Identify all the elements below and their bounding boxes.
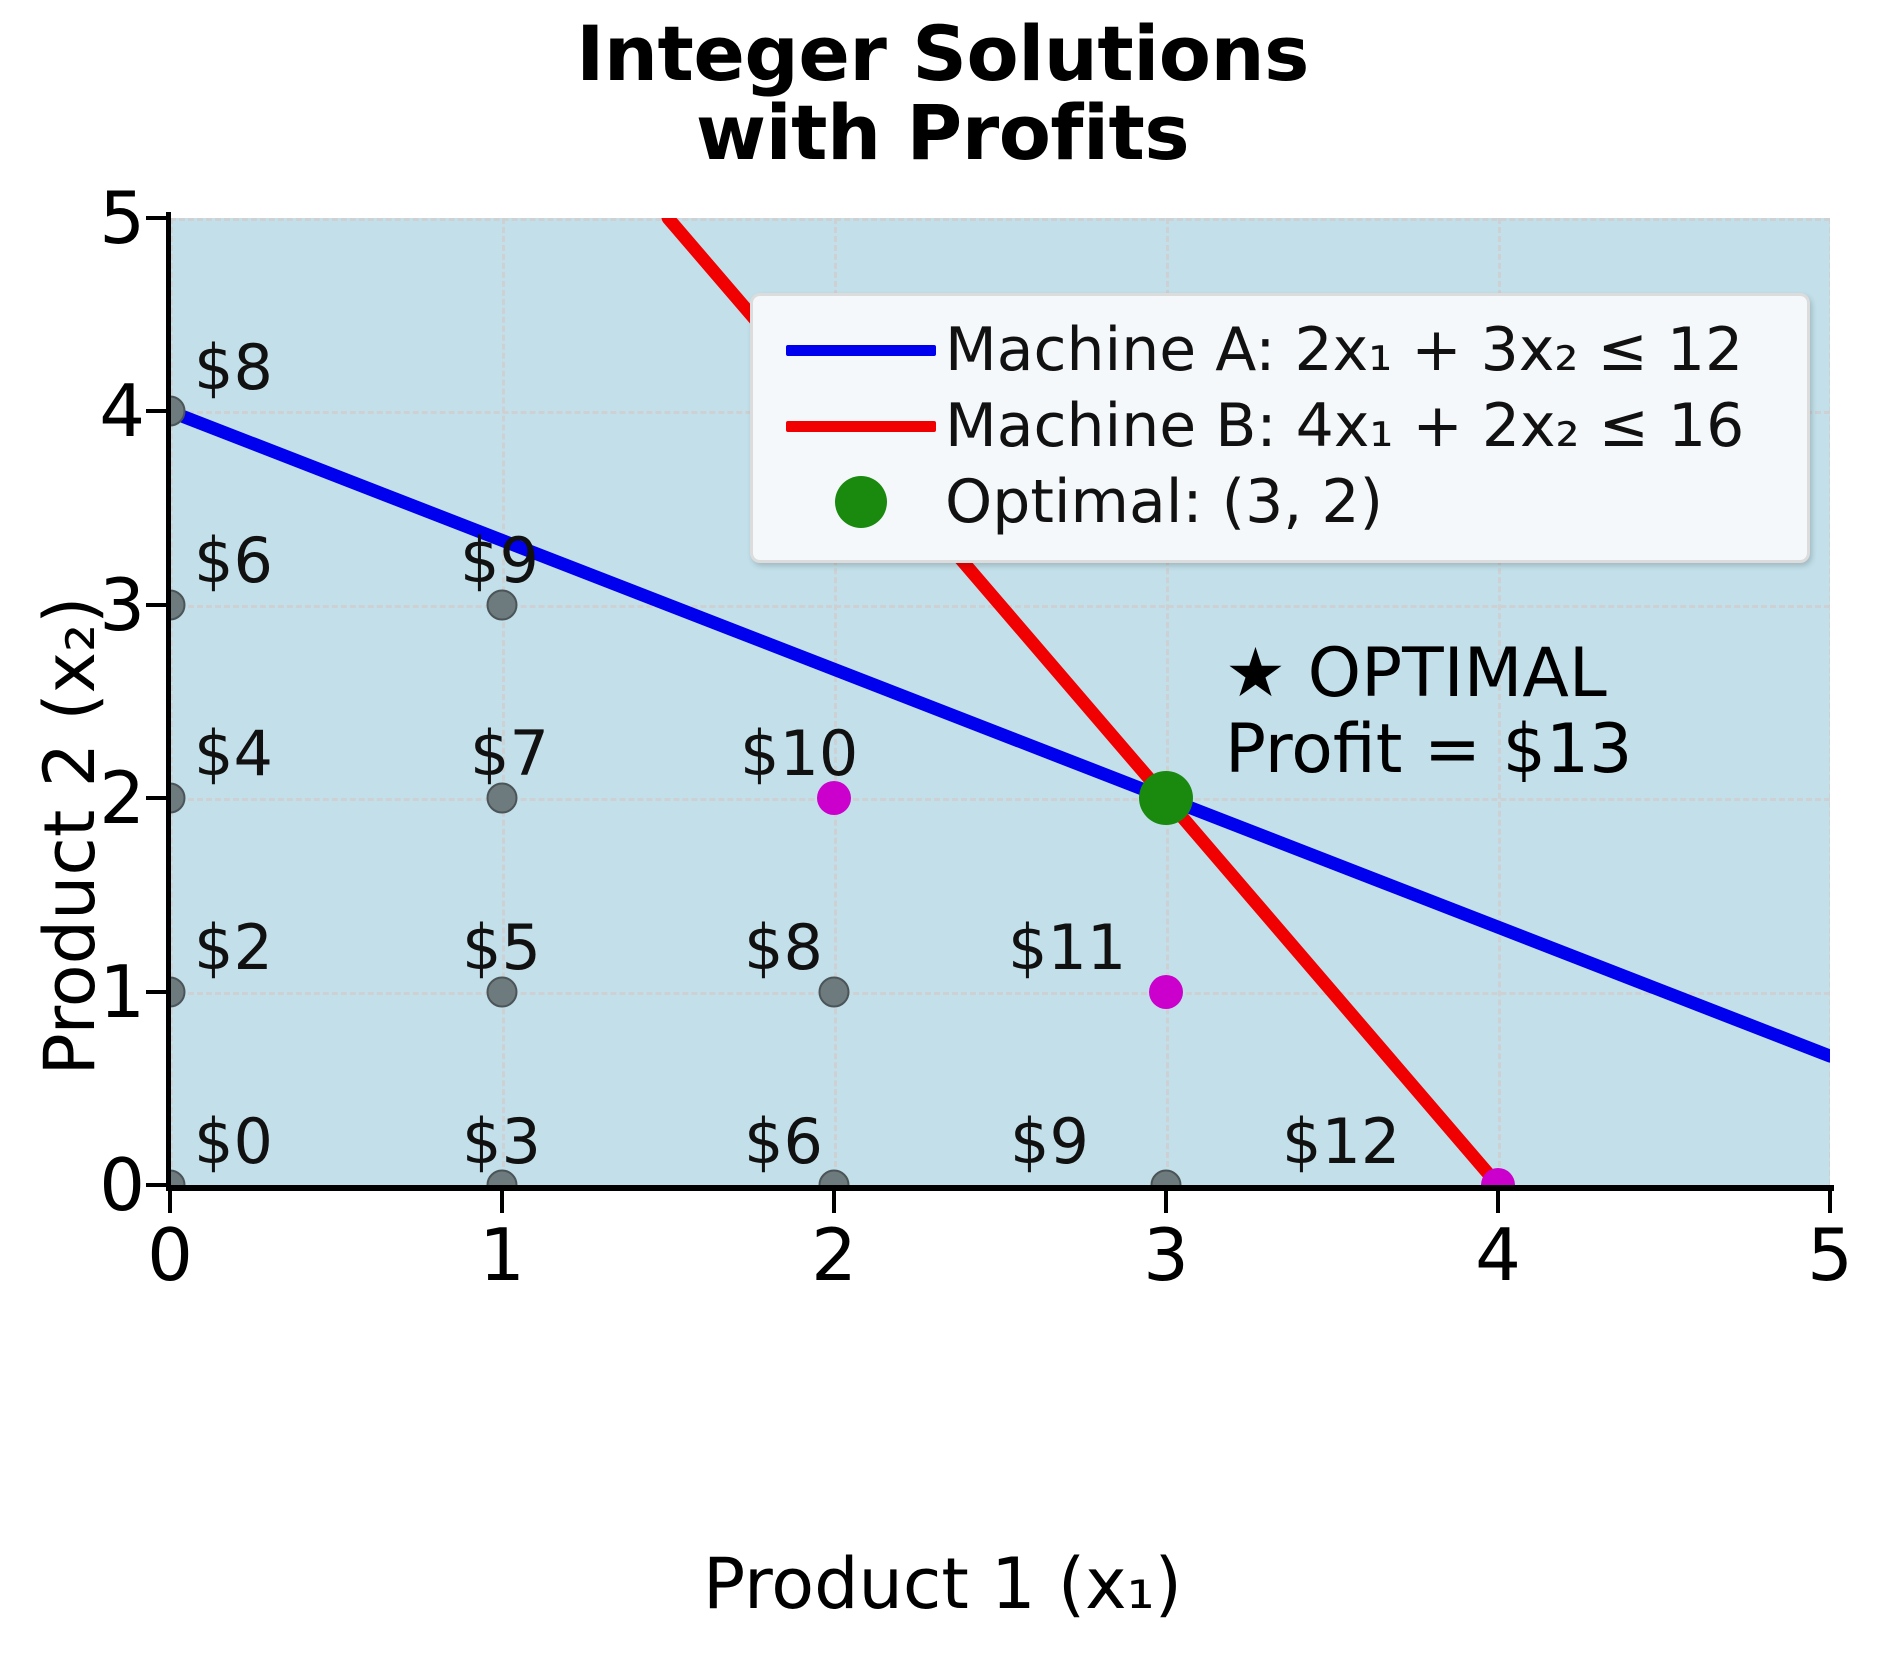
profit-label: $7 (470, 717, 549, 790)
profit-label: $10 (740, 717, 858, 790)
profit-label: $6 (744, 1105, 823, 1178)
solution-point[interactable] (819, 976, 850, 1007)
y-tick (146, 990, 168, 994)
y-tick (146, 409, 168, 413)
y-tick (146, 216, 168, 220)
legend-item[interactable]: Machine B: 4x₁ + 2x₂ ≤ 16 (777, 388, 1783, 464)
axis-spine-left (166, 212, 171, 1191)
chart-title: Integer Solutions with Profits (0, 14, 1885, 172)
profit-label: $2 (194, 911, 273, 984)
legend-key-dot (777, 476, 945, 528)
x-tick-label: 4 (1475, 1213, 1521, 1297)
y-tick (146, 796, 168, 800)
x-tick-label: 2 (811, 1213, 857, 1297)
legend-key-line (777, 345, 945, 356)
x-tick-label: 3 (1143, 1213, 1189, 1297)
x-tick (1164, 1191, 1168, 1213)
x-tick (1828, 1191, 1832, 1213)
x-tick (832, 1191, 836, 1213)
profit-label: $9 (460, 524, 539, 597)
profit-label: $8 (194, 331, 273, 404)
profit-label: $12 (1282, 1105, 1400, 1178)
profit-label: $3 (462, 1105, 541, 1178)
optimal-annotation-line-1: ★ OPTIMAL (1225, 636, 1632, 712)
star-icon: ★ (1225, 634, 1286, 713)
chart-title-line-2: with Profits (0, 93, 1885, 172)
optimal-annotation-text: OPTIMAL (1308, 634, 1607, 713)
optimal-annotation: ★ OPTIMAL Profit = $13 (1225, 636, 1632, 788)
profit-label: $8 (744, 911, 823, 984)
legend-label: Machine A: 2x₁ + 3x₂ ≤ 12 (945, 315, 1743, 385)
x-tick (168, 1191, 172, 1213)
y-tick (146, 603, 168, 607)
y-tick-label: 5 (99, 176, 145, 260)
x-tick (1496, 1191, 1500, 1213)
chart-legend[interactable]: Machine A: 2x₁ + 3x₂ ≤ 12 Machine B: 4x₁… (750, 293, 1810, 563)
x-tick-label: 0 (147, 1213, 193, 1297)
profit-label: $0 (194, 1105, 273, 1178)
y-axis-title: Product 2 (x₂) (29, 476, 111, 1196)
x-tick-label: 5 (1807, 1213, 1853, 1297)
legend-item[interactable]: Optimal: (3, 2) (777, 464, 1783, 540)
optimal-point-marker[interactable] (1139, 771, 1193, 825)
legend-label: Machine B: 4x₁ + 2x₂ ≤ 16 (945, 391, 1744, 461)
chart-title-line-1: Integer Solutions (576, 9, 1309, 98)
legend-key-line (777, 421, 945, 432)
y-tick (146, 1183, 168, 1187)
profit-label: $6 (194, 524, 273, 597)
profit-label: $9 (1010, 1105, 1089, 1178)
chart-figure: Integer Solutions with Profits (0, 0, 1885, 1656)
solution-point-boundary[interactable] (1149, 975, 1183, 1009)
x-tick-label: 1 (479, 1213, 525, 1297)
profit-label: $5 (462, 911, 541, 984)
profit-label: $11 (1008, 911, 1126, 984)
x-tick (500, 1191, 504, 1213)
legend-item[interactable]: Machine A: 2x₁ + 3x₂ ≤ 12 (777, 312, 1783, 388)
optimal-annotation-line-2: Profit = $13 (1225, 712, 1632, 788)
y-tick-label: 4 (99, 369, 145, 453)
legend-label: Optimal: (3, 2) (945, 467, 1383, 537)
profit-label: $4 (194, 717, 273, 790)
x-axis-title: Product 1 (x₁) (0, 1543, 1885, 1625)
axis-spine-bottom (166, 1185, 1834, 1191)
